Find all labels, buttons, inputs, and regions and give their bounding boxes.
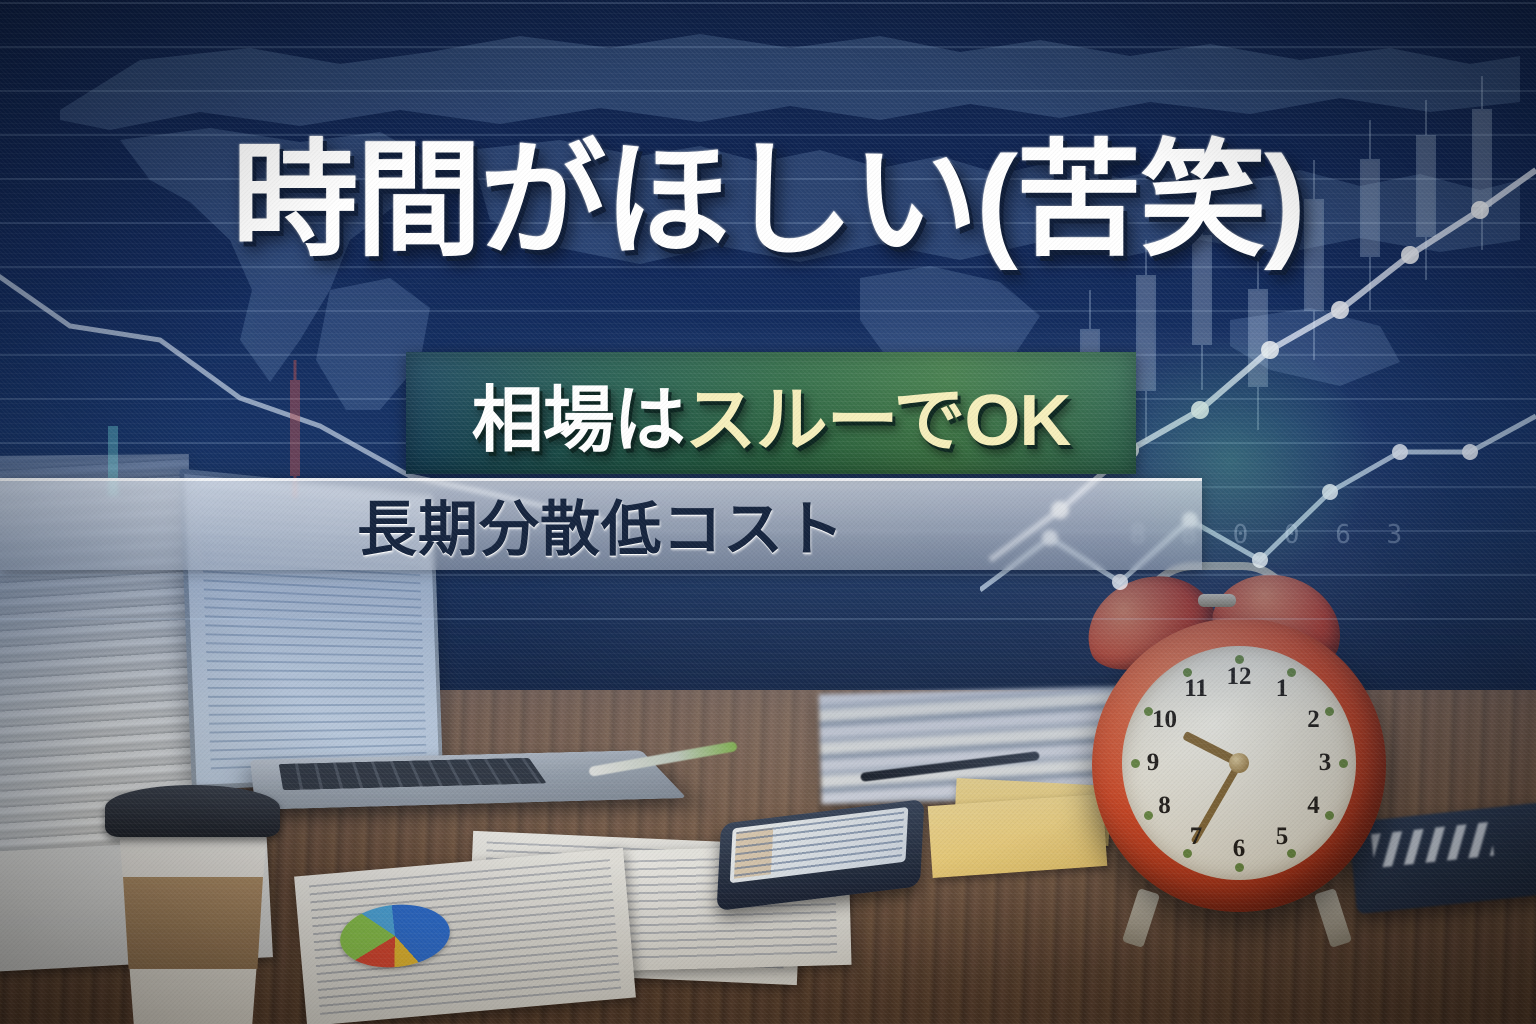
subtitle-highlight: スルーでOK bbox=[685, 361, 1071, 466]
subtitle-band: 相場はスルーでOK bbox=[406, 352, 1136, 474]
tagline-band: 長期分散低コスト bbox=[0, 478, 1202, 570]
tagline-text: 長期分散低コスト bbox=[0, 478, 1202, 570]
subtitle-text: 相場はスルーでOK bbox=[406, 352, 1136, 474]
subtitle-lead: 相場は bbox=[472, 361, 685, 466]
page-title: 時間がほしい(苦笑) bbox=[0, 135, 1536, 266]
thumbnail-canvas: 121234567891011 bbox=[0, 0, 1536, 1024]
